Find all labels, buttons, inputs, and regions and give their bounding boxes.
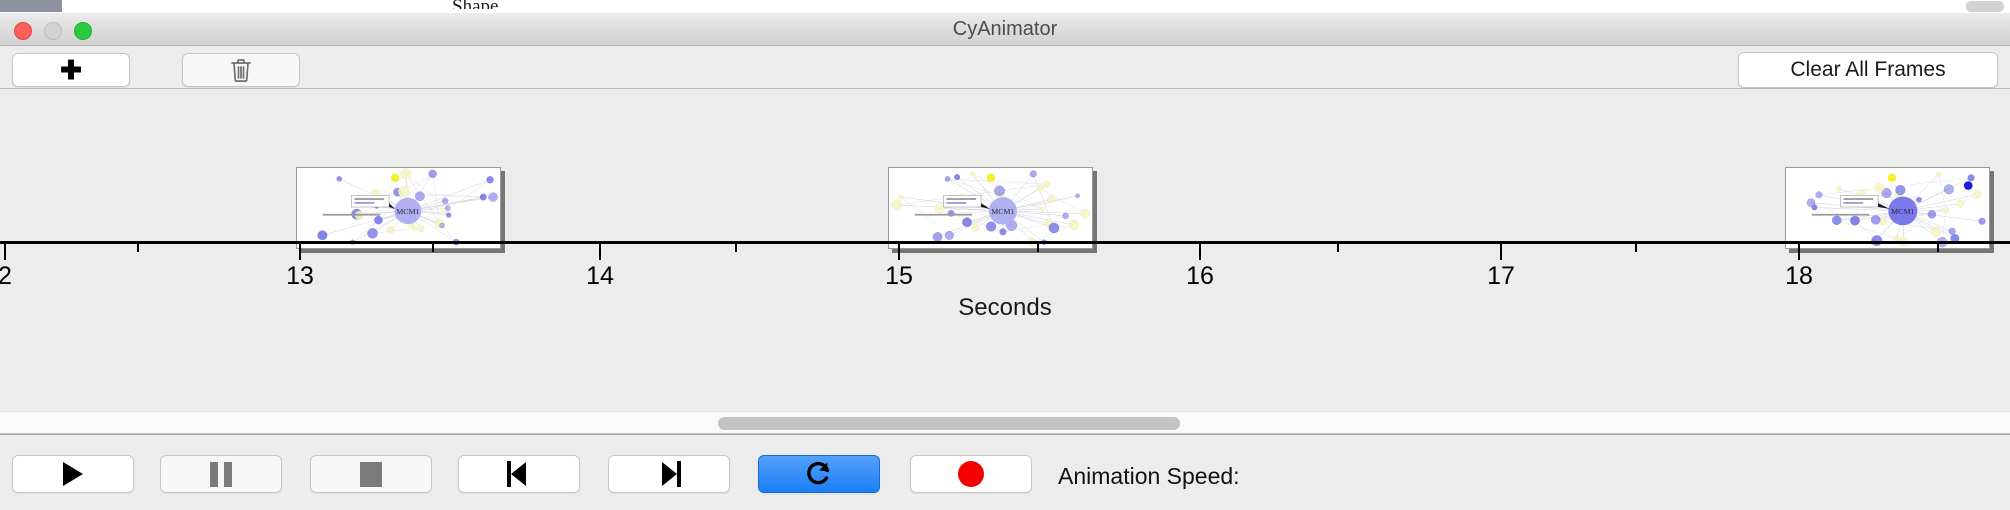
- skip-end-button[interactable]: [608, 455, 730, 493]
- title-bar[interactable]: CyAnimator: [0, 13, 2010, 46]
- pause-icon: [210, 462, 232, 487]
- ruler-tick: [1199, 243, 1201, 260]
- timeline-panel[interactable]: MCM1MCM1MCM1 2131415161718 Seconds: [0, 89, 2010, 411]
- skip-start-icon: [507, 461, 531, 487]
- ruler-tick: [137, 243, 139, 252]
- ruler-tick: [735, 243, 737, 252]
- timeline-frame-thumbnail[interactable]: MCM1: [888, 167, 1093, 249]
- hub-node-label: MCM1: [991, 207, 1014, 216]
- background-tab-2: [242, 0, 453, 13]
- ruler-tick: [1337, 243, 1339, 252]
- ruler-tick-label: 16: [1159, 262, 1241, 291]
- ruler-tick-label: 15: [858, 262, 940, 291]
- trash-icon: [229, 57, 253, 83]
- ruler-tick-label: 14: [559, 262, 641, 291]
- ruler-tick-label: 18: [1758, 262, 1840, 291]
- background-dark-tab: [0, 0, 62, 12]
- ruler-tick: [432, 243, 434, 252]
- window-title: CyAnimator: [0, 13, 2010, 46]
- play-icon: [63, 462, 83, 486]
- stop-icon: [360, 462, 382, 487]
- hub-node-label: MCM1: [1891, 207, 1914, 216]
- clear-all-frames-label: Clear All Frames: [1790, 58, 1945, 82]
- background-scrollbar: [1966, 1, 2004, 12]
- ruler-tick: [1037, 243, 1039, 252]
- background-tab-1: [62, 0, 243, 13]
- network-view: MCM1: [297, 168, 500, 248]
- record-button[interactable]: [910, 455, 1032, 493]
- ruler-tick: [4, 243, 6, 260]
- ruler-tick: [1635, 243, 1637, 252]
- background-label-shape: Shape: [452, 0, 498, 9]
- pause-button[interactable]: [160, 455, 282, 493]
- skip-start-button[interactable]: [458, 455, 580, 493]
- hub-node-label: MCM1: [396, 207, 419, 216]
- timeline-scrollbar[interactable]: [0, 411, 2010, 434]
- ruler-tick: [1798, 243, 1800, 260]
- ruler-tick: [1937, 243, 1939, 252]
- timeline-scrollbar-thumb[interactable]: [718, 417, 1180, 430]
- background-tab-6: [1212, 0, 2010, 13]
- ruler-tick-label: 2: [0, 262, 46, 291]
- ruler-tick-label: 13: [259, 262, 341, 291]
- axis-title: Seconds: [0, 294, 2010, 322]
- network-view: MCM1: [889, 168, 1092, 248]
- record-icon: [958, 461, 984, 487]
- ruler-tick: [599, 243, 601, 260]
- skip-end-icon: [657, 461, 681, 487]
- ruler-tick: [1500, 243, 1502, 260]
- ruler-tick-label: 17: [1460, 262, 1542, 291]
- timeline-frame-thumbnail[interactable]: MCM1: [296, 167, 501, 249]
- background-app-strip: Shape: [0, 0, 2010, 13]
- ruler-tick: [898, 243, 900, 260]
- network-view: MCM1: [1786, 168, 1989, 248]
- ruler-tick: [299, 243, 301, 260]
- background-tab-4: [752, 0, 953, 13]
- timeline-ruler-line: [0, 241, 2010, 244]
- play-button[interactable]: [12, 455, 134, 493]
- add-frame-button[interactable]: ✚: [12, 53, 130, 87]
- stop-button[interactable]: [310, 455, 432, 493]
- plus-icon: ✚: [60, 57, 82, 83]
- animation-speed-label: Animation Speed:: [1058, 463, 1240, 490]
- frame-toolbar: ✚ Clear All Frames: [0, 46, 2010, 89]
- timeline-frame-thumbnail[interactable]: MCM1: [1785, 167, 1990, 249]
- background-tab-5: [952, 0, 1213, 13]
- clear-all-frames-button[interactable]: Clear All Frames: [1738, 52, 1998, 88]
- playback-bar: Animation Speed:: [0, 434, 2010, 510]
- cyanimator-window: Shape CyAnimator ✚ Clear All Frames MCM1…: [0, 0, 2010, 510]
- loop-button[interactable]: [758, 455, 880, 493]
- delete-frame-button[interactable]: [182, 53, 300, 87]
- loop-icon: [805, 459, 833, 489]
